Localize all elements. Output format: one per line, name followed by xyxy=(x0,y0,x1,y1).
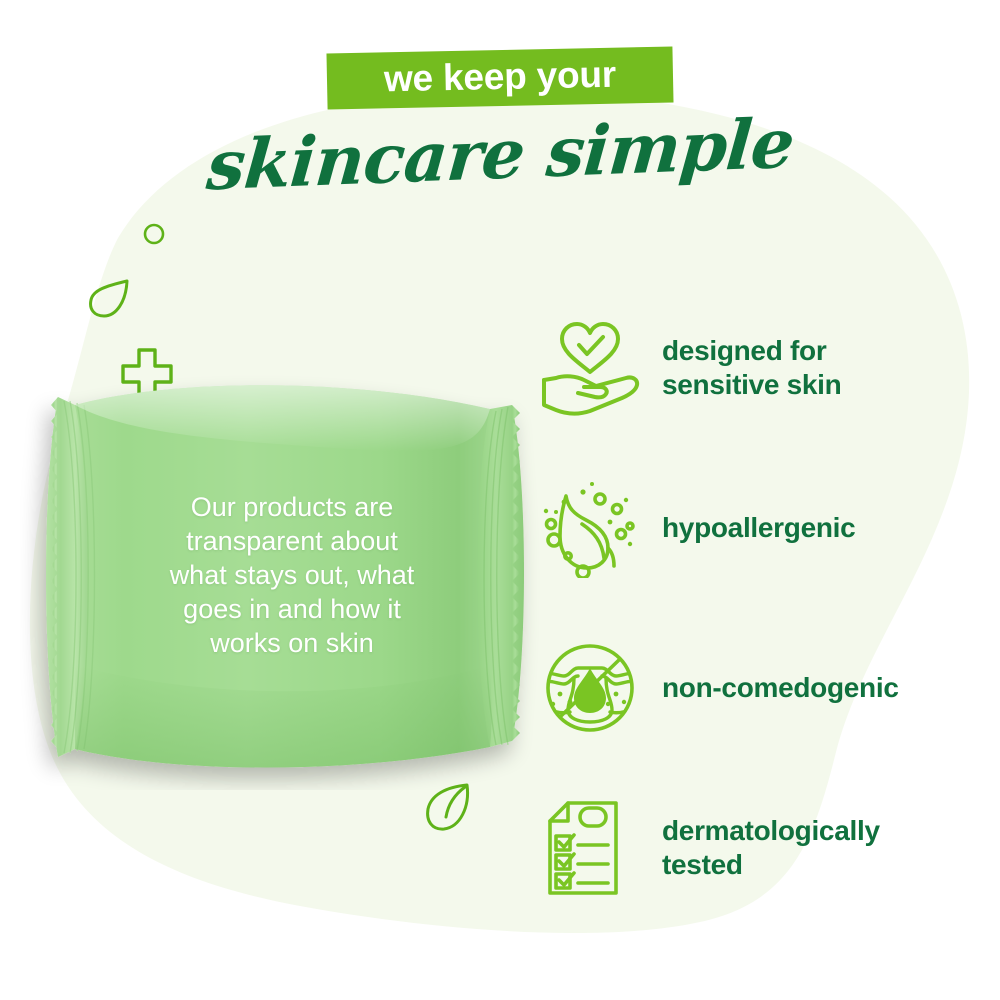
circle-outline-icon xyxy=(141,221,167,247)
script-headline-text: skincare simple xyxy=(203,101,796,210)
feature-label-line: non-comedogenic xyxy=(662,671,899,705)
hand-holding-heart-check-icon xyxy=(538,318,642,418)
promo-graphic: we keep your skincare simple xyxy=(0,0,1000,1000)
script-headline: skincare simple xyxy=(0,112,1000,202)
packet-copy-line: Our products are xyxy=(132,490,452,524)
packet-copy-line: goes in and how it xyxy=(132,592,452,626)
feature-icon-slot xyxy=(530,638,650,738)
packet-copy: Our products are transparent about what … xyxy=(132,490,452,660)
feature-item-non-comedogenic: non-comedogenic xyxy=(530,608,980,768)
feature-item-hypoallergenic: hypoallergenic xyxy=(530,448,980,608)
feature-label: designed for sensitive skin xyxy=(650,334,841,402)
banner-text: we keep your xyxy=(384,56,617,101)
leaf-outline-icon xyxy=(86,276,134,322)
feature-label: hypoallergenic xyxy=(650,511,855,545)
packet-copy-line: what stays out, what xyxy=(132,558,452,592)
feature-label-line: tested xyxy=(662,848,880,882)
feature-list: designed for sensitive skin xyxy=(530,288,980,928)
headline-banner: we keep your xyxy=(326,47,673,110)
product-packet: Our products are transparent about what … xyxy=(20,365,540,790)
leaf-sparkle-icon xyxy=(538,478,642,578)
packet-copy-line: transparent about xyxy=(132,524,452,558)
feature-icon-slot xyxy=(530,798,650,898)
no-clogged-pore-icon xyxy=(538,638,642,738)
feature-item-designed-for-sensitive-skin: designed for sensitive skin xyxy=(530,288,980,448)
feature-label-line: designed for xyxy=(662,334,841,368)
feature-icon-slot xyxy=(530,478,650,578)
feature-label: non-comedogenic xyxy=(650,671,899,705)
feature-item-dermatologically-tested: dermatologically tested xyxy=(530,768,980,928)
clipboard-checklist-icon xyxy=(538,798,642,898)
feature-label-line: sensitive skin xyxy=(662,368,841,402)
feature-label-line: hypoallergenic xyxy=(662,511,855,545)
feature-label: dermatologically tested xyxy=(650,814,880,882)
feature-label-line: dermatologically xyxy=(662,814,880,848)
feature-icon-slot xyxy=(530,318,650,418)
packet-copy-line: works on skin xyxy=(132,626,452,660)
